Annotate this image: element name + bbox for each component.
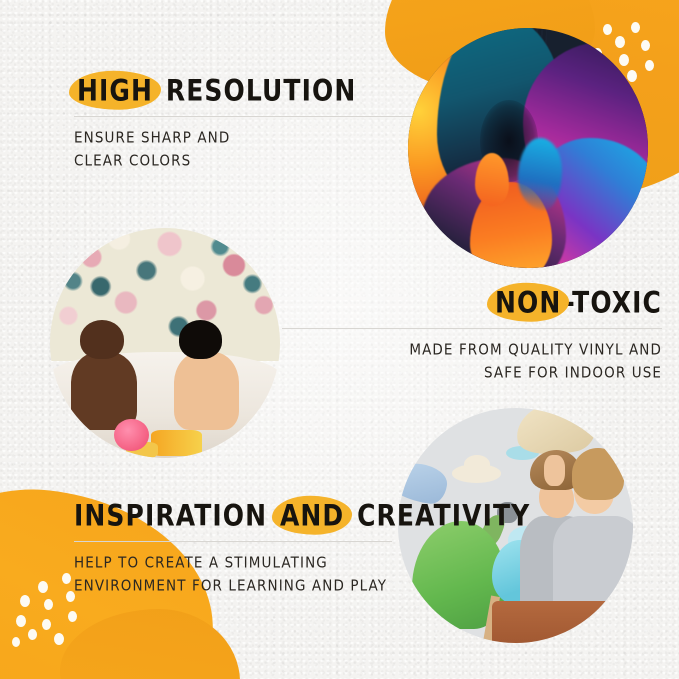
feature-block-high-resolution: HIGH RESOLUTION ENSURE SHARP AND CLEAR C… bbox=[74, 80, 412, 169]
heading-divider-rule bbox=[282, 328, 662, 329]
heading-rest: CREATIVITY bbox=[347, 498, 530, 532]
feature-heading-non-toxic: NON-TOXIC bbox=[392, 288, 662, 318]
babies-floral-wallpaper-photo bbox=[50, 228, 280, 458]
dot bbox=[16, 615, 26, 627]
feature-body-high-resolution: ENSURE SHARP AND CLEAR COLORS bbox=[74, 127, 412, 173]
dot bbox=[28, 629, 37, 640]
dot bbox=[38, 581, 48, 593]
dot bbox=[62, 573, 71, 584]
heading-rest: -TOXIC bbox=[564, 285, 662, 319]
feature-body-inspiration-creativity: HELP TO CREATE A STIMULATING ENVIRONMENT… bbox=[74, 552, 530, 598]
heading-pre: INSPIRATION bbox=[74, 498, 277, 532]
abstract-fluid-art-photo bbox=[408, 28, 648, 268]
dot bbox=[44, 599, 53, 610]
heading-highlight: HIGH bbox=[74, 76, 156, 106]
heading-highlight: NON bbox=[492, 288, 564, 318]
heading-divider-rule bbox=[74, 116, 412, 117]
dot bbox=[12, 637, 20, 647]
feature-heading-high-resolution: HIGH RESOLUTION bbox=[74, 76, 412, 106]
feature-block-non-toxic: NON-TOXIC MADE FROM QUALITY VINYL AND SA… bbox=[392, 292, 662, 381]
dot bbox=[20, 595, 30, 607]
dot bbox=[54, 633, 64, 645]
infographic-canvas: HIGH RESOLUTION ENSURE SHARP AND CLEAR C… bbox=[0, 0, 679, 679]
dot bbox=[42, 619, 51, 630]
dot bbox=[68, 611, 77, 622]
heading-rest: RESOLUTION bbox=[166, 73, 356, 107]
feature-block-inspiration-creativity: INSPIRATION AND CREATIVITY HELP TO CREAT… bbox=[74, 505, 530, 594]
heading-highlight: AND bbox=[277, 501, 347, 531]
heading-divider-rule bbox=[74, 541, 392, 542]
feature-heading-inspiration-creativity: INSPIRATION AND CREATIVITY bbox=[74, 501, 530, 531]
feature-body-non-toxic: MADE FROM QUALITY VINYL AND SAFE FOR IND… bbox=[392, 339, 662, 385]
